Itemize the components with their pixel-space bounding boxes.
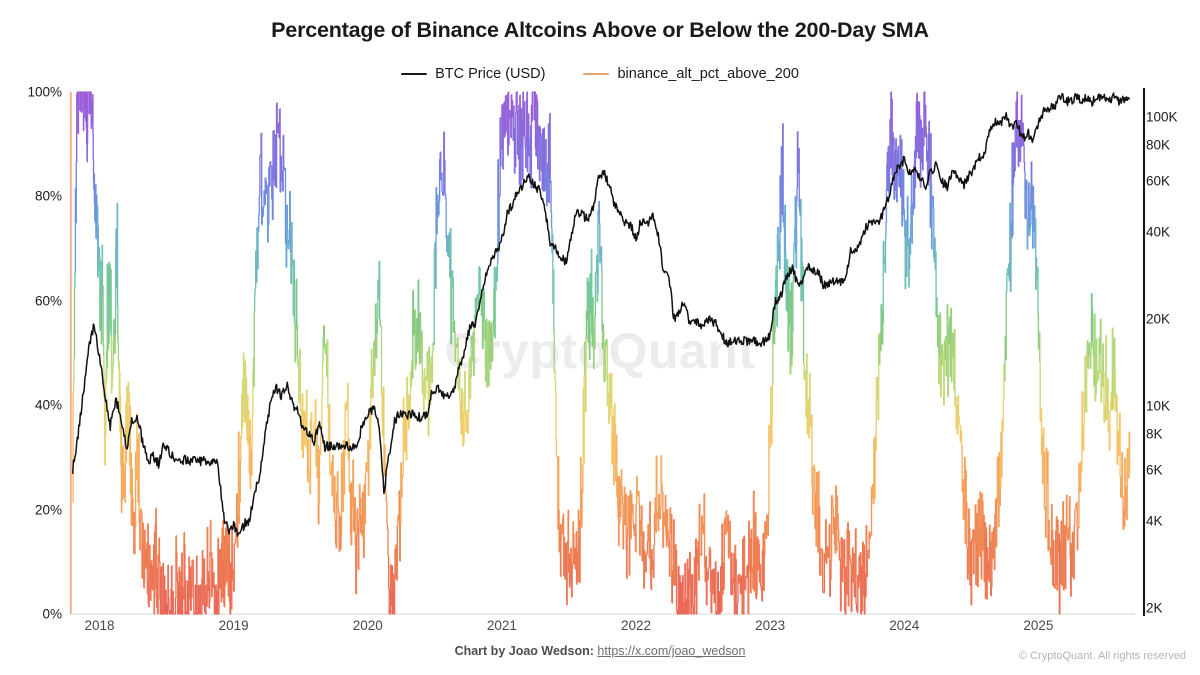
y-left-tick-label: 100% xyxy=(27,85,62,100)
legend-label: binance_alt_pct_above_200 xyxy=(617,66,798,82)
y-right-tick-label: 20K xyxy=(1146,311,1170,326)
y-right-tick-label: 4K xyxy=(1146,513,1163,528)
copyright-notice: © CryptoQuant. All rights reserved xyxy=(1019,650,1186,662)
y-right-tick-label: 6K xyxy=(1146,462,1163,477)
y-left-tick-label: 20% xyxy=(35,502,62,517)
y-right-tick-label: 100K xyxy=(1146,109,1178,124)
x-tick-label: 2023 xyxy=(755,618,785,633)
y-right-tick-label: 2K xyxy=(1146,600,1163,615)
y-left-tick-label: 60% xyxy=(35,293,62,308)
y-left-tick-label: 80% xyxy=(35,189,62,204)
x-axis: 20182019202020212022202320242025 xyxy=(70,618,1135,644)
page-title: Percentage of Binance Altcoins Above or … xyxy=(0,18,1200,43)
x-tick-label: 2021 xyxy=(487,618,517,633)
legend-swatch-icon xyxy=(401,73,427,75)
y-right-tick-label: 60K xyxy=(1146,174,1170,189)
x-tick-label: 2024 xyxy=(889,618,919,633)
y-right-tick-label: 80K xyxy=(1146,137,1170,152)
x-tick-label: 2025 xyxy=(1023,618,1053,633)
x-tick-label: 2019 xyxy=(219,618,249,633)
y-left-tick-label: 40% xyxy=(35,398,62,413)
y-axis-left: 0%20%40%60%80%100% xyxy=(0,92,62,614)
y-axis-right: 2K4K6K8K10K20K40K60K80K100K xyxy=(1146,92,1200,614)
legend-alt-pct[interactable]: binance_alt_pct_above_200 xyxy=(583,66,798,82)
series-binance-alt-pct-above-200 xyxy=(73,92,1130,614)
credit-author: Chart by Joao Wedson: xyxy=(455,644,594,658)
legend-btc-price[interactable]: BTC Price (USD) xyxy=(401,66,545,82)
chart-page: Percentage of Binance Altcoins Above or … xyxy=(0,0,1200,675)
legend-swatch-icon xyxy=(583,73,609,75)
plot-area xyxy=(70,92,1135,614)
x-tick-label: 2018 xyxy=(84,618,114,633)
plot-svg xyxy=(70,92,1135,614)
y-left-tick-label: 0% xyxy=(42,607,62,622)
y-right-tick-label: 8K xyxy=(1146,426,1163,441)
chart-legend: BTC Price (USD)binance_alt_pct_above_200 xyxy=(0,66,1200,82)
series-btc-price xyxy=(73,93,1130,536)
legend-label: BTC Price (USD) xyxy=(435,66,545,82)
y-right-tick-label: 10K xyxy=(1146,398,1170,413)
y-right-tick-label: 40K xyxy=(1146,224,1170,239)
x-tick-label: 2020 xyxy=(353,618,383,633)
credit-link[interactable]: https://x.com/joao_wedson xyxy=(597,644,745,658)
x-tick-label: 2022 xyxy=(621,618,651,633)
